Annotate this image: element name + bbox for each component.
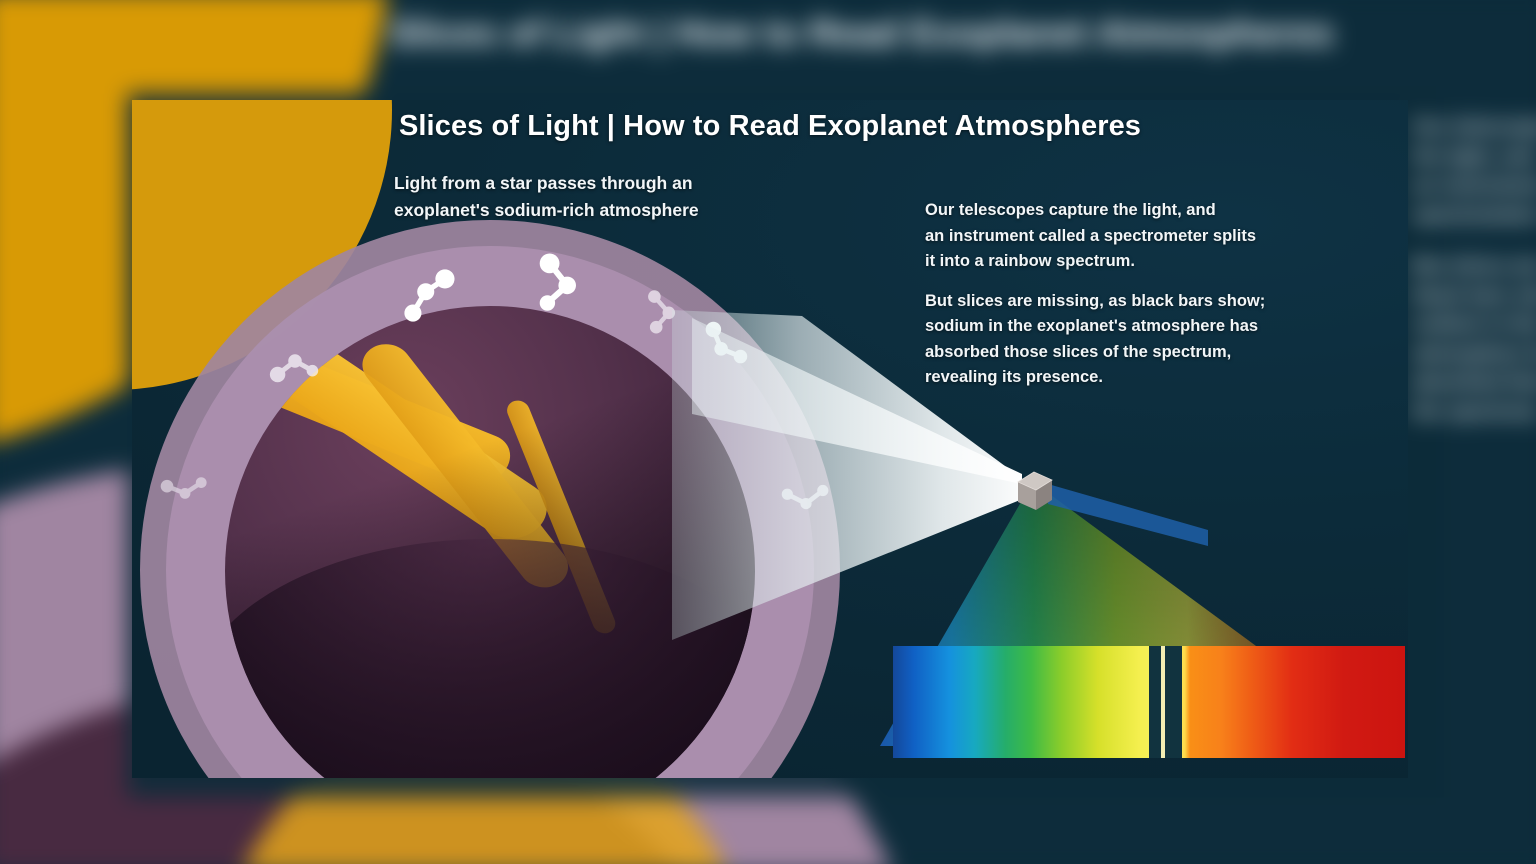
right-caption-p2-line-3: absorbed those slices of the spectrum, bbox=[925, 340, 1365, 366]
bg-ghost-line-c: But slices are missing, as black bars sh… bbox=[1413, 256, 1536, 306]
sodium-molecule-icon bbox=[266, 332, 324, 390]
sodium-absorption-line bbox=[1165, 646, 1182, 758]
background-right-caption-ghost: Our telescopes capture the light, and an… bbox=[1413, 114, 1536, 427]
bg-ghost-line-e: absorbed those slices of the spectrum, bbox=[1413, 372, 1536, 422]
bg-ghost-line-b: an instrument called a spectrometer spli… bbox=[1413, 175, 1536, 225]
sodium-absorption-line bbox=[1149, 646, 1161, 758]
sodium-molecule-icon bbox=[532, 248, 598, 314]
infographic-panel: Slices of Light | How to Read Exoplanet … bbox=[132, 100, 1408, 778]
bg-ghost-line-d: sodium in the exoplanet's atmosphere has bbox=[1413, 314, 1536, 364]
right-caption-p2-line-2: sodium in the exoplanet's atmosphere has bbox=[925, 314, 1365, 340]
sodium-molecule-icon bbox=[398, 264, 462, 328]
spectrometer-prism-cube[interactable] bbox=[1012, 468, 1056, 514]
prism-reflected-ray bbox=[1048, 478, 1238, 558]
right-caption-paragraph-1: Our telescopes capture the light, and an… bbox=[925, 198, 1365, 275]
left-caption-line-1: Light from a star passes through an bbox=[394, 170, 794, 197]
page-title: Slices of Light | How to Read Exoplanet … bbox=[132, 110, 1408, 143]
sodium-molecule-icon bbox=[158, 468, 212, 508]
right-caption-p2-line-4: revealing its presence. bbox=[925, 365, 1365, 391]
rainbow-spectrum-bar bbox=[893, 646, 1405, 758]
right-caption: Our telescopes capture the light, and an… bbox=[925, 198, 1365, 405]
left-caption-line-2: exoplanet's sodium-rich atmosphere bbox=[394, 197, 794, 224]
bg-ghost-line-a: Our telescopes capture the light, and bbox=[1413, 117, 1536, 167]
right-caption-p2-line-1: But slices are missing, as black bars sh… bbox=[925, 289, 1365, 315]
right-caption-p1-line-2: an instrument called a spectrometer spli… bbox=[925, 224, 1365, 250]
infographic-screenshot: Slices of Light | How to Read Exoplanet … bbox=[0, 0, 1536, 864]
left-caption: Light from a star passes through an exop… bbox=[394, 170, 794, 223]
right-caption-paragraph-2: But slices are missing, as black bars sh… bbox=[925, 289, 1365, 391]
right-caption-p1-line-3: it into a rainbow spectrum. bbox=[925, 249, 1365, 275]
right-caption-p1-line-1: Our telescopes capture the light, and bbox=[925, 198, 1365, 224]
background-title-ghost: Slices of Light | How to Read Exoplanet … bbox=[260, 12, 1464, 55]
